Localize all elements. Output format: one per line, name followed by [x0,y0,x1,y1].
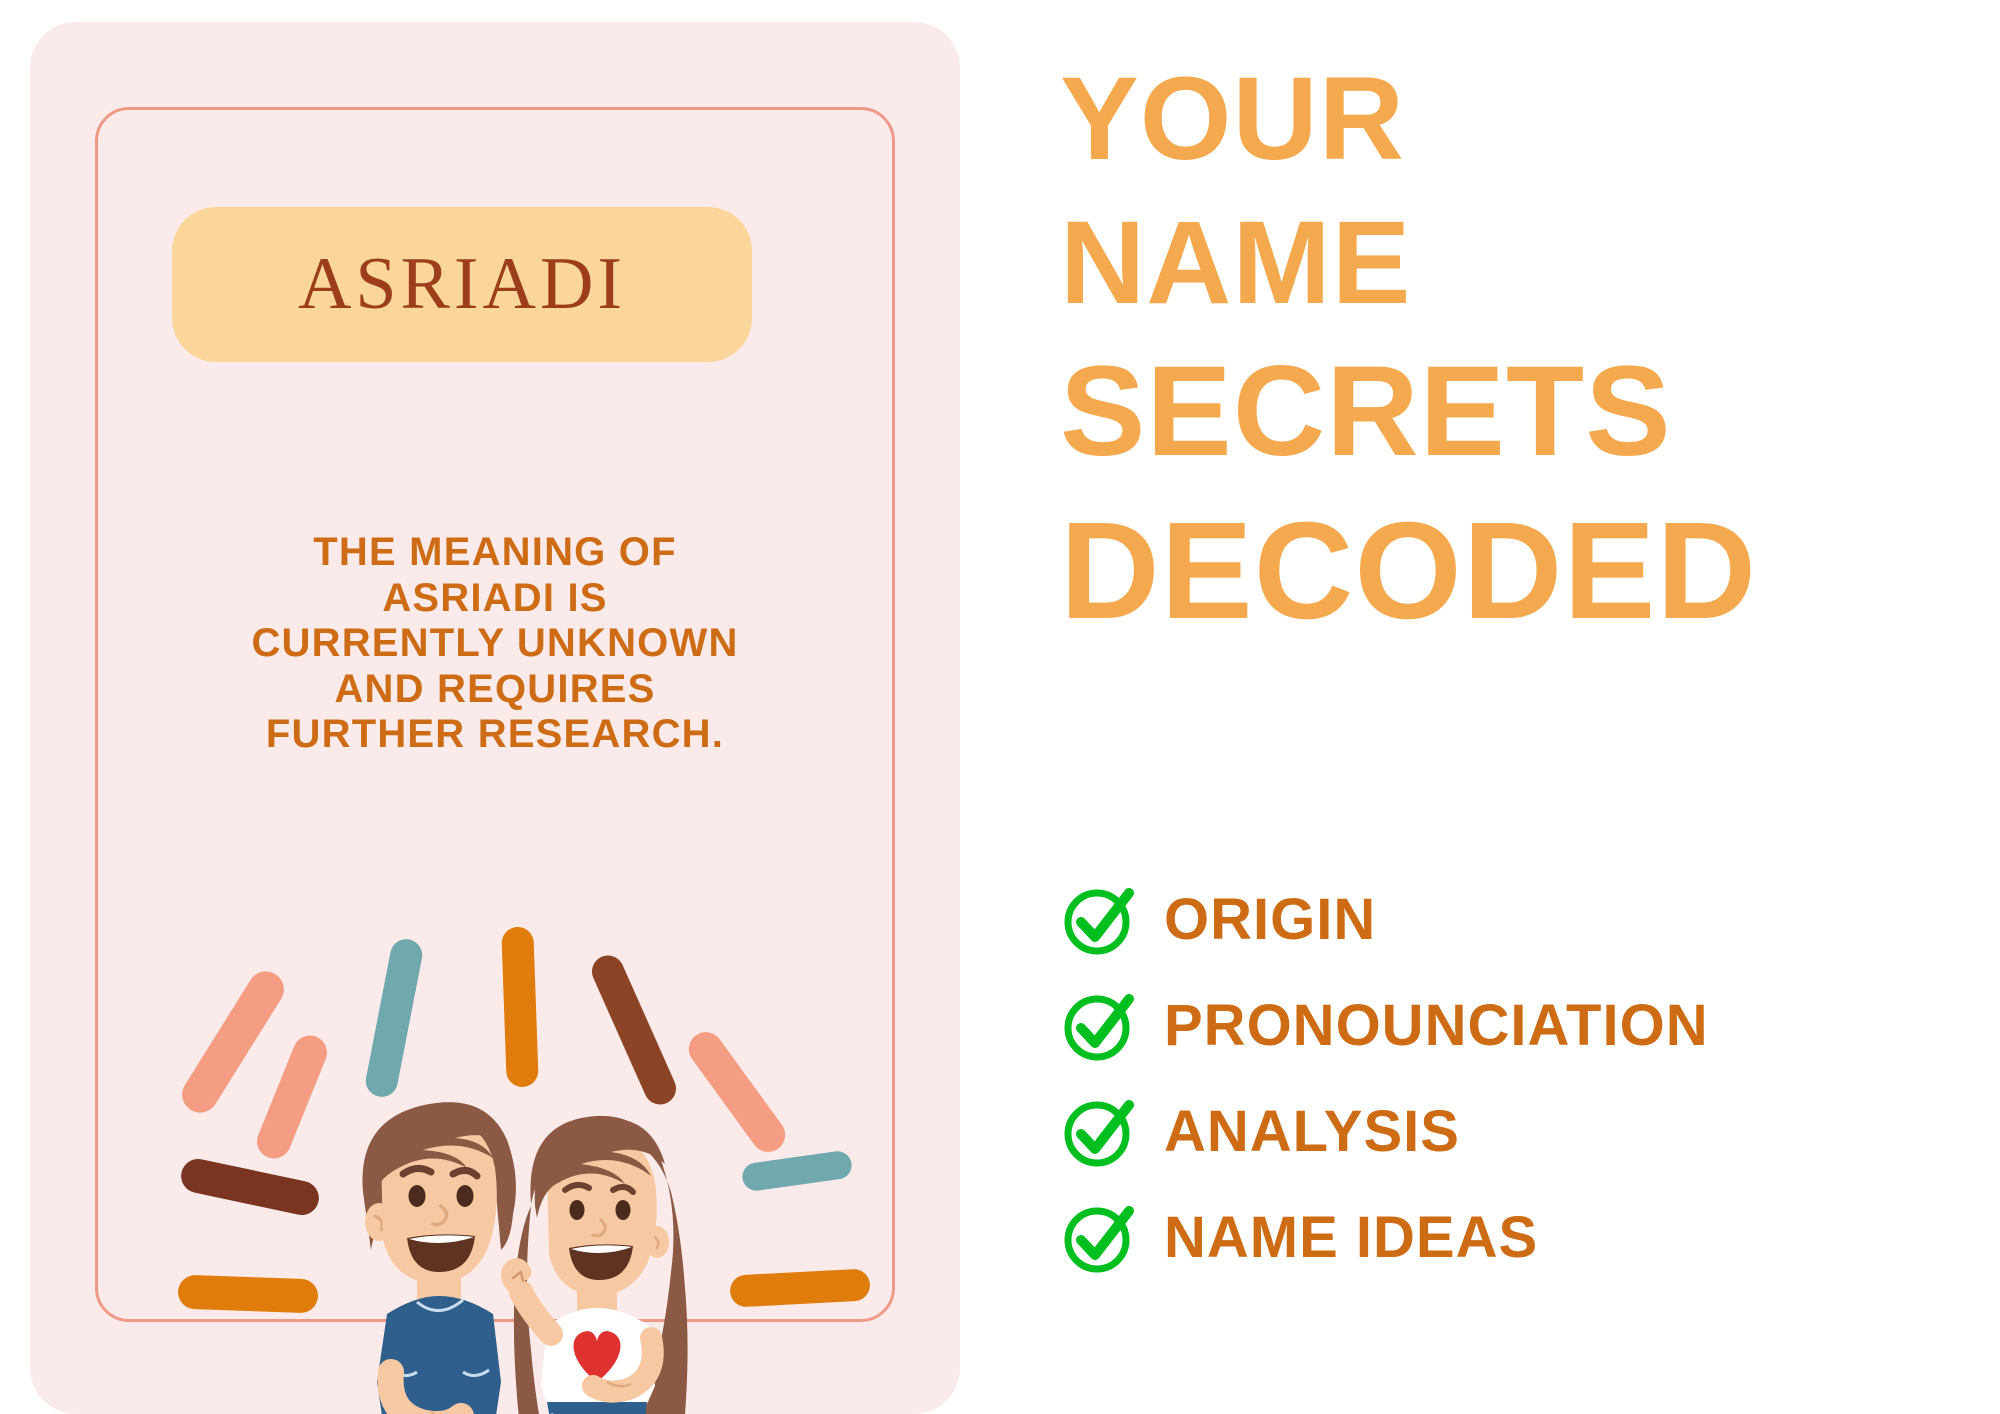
headline-line-1: YOUR [1060,60,1990,178]
two-children-illustration [335,1082,695,1414]
ray-teal-right [741,1149,854,1192]
headline-line-4: DECODED [1060,502,1990,640]
ray-coral-left-inner [252,1030,332,1163]
name-banner: ASRIADI [172,207,752,362]
check-circle-icon [1060,880,1138,958]
checklist-item-name-ideas: NAME IDEAS [1060,1198,1990,1276]
checklist-item-pronounciation: PRONOUNCIATION [1060,986,1990,1064]
checklist-label: NAME IDEAS [1164,1204,1538,1271]
name-label: ASRIADI [298,242,626,327]
checklist-label: PRONOUNCIATION [1164,992,1709,1059]
ray-coral-right [682,1025,792,1158]
feature-checklist: ORIGIN PRONOUNCIATION ANALYSIS [1060,880,1990,1304]
name-meaning-text: THE MEANING OF ASRIADI IS CURRENTLY UNKN… [130,530,860,758]
check-circle-icon [1060,986,1138,1064]
ray-orange-right-bar [729,1268,870,1307]
headline-line-2: NAME [1060,204,1990,322]
ray-orange-center [501,926,539,1087]
check-circle-icon [1060,1092,1138,1170]
ray-teal-left [363,936,425,1099]
headline-line-3: SECRETS [1060,348,1990,476]
name-card: ASRIADI THE MEANING OF ASRIADI IS CURREN… [30,22,960,1414]
check-circle-icon [1060,1198,1138,1276]
headline-block: YOUR NAME SECRETS DECODED [1060,60,1990,666]
checklist-label: ORIGIN [1164,886,1376,953]
checklist-item-origin: ORIGIN [1060,880,1990,958]
right-panel: YOUR NAME SECRETS DECODED ORIGIN PRONOUN… [1040,0,2000,1414]
ray-darkbrown-left-bar [178,1156,322,1218]
checklist-label: ANALYSIS [1164,1098,1460,1165]
ray-orange-left-bar [177,1275,318,1314]
children-svg [335,1082,695,1414]
checklist-item-analysis: ANALYSIS [1060,1092,1990,1170]
